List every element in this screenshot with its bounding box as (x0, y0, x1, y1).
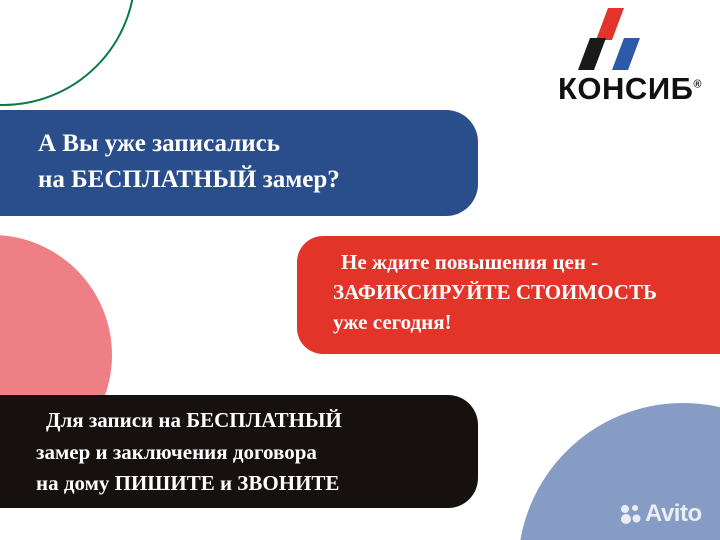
blue-banner-line-2: на БЕСПЛАТНЫЙ замер? (38, 162, 478, 198)
brand-logo: КОНСИБ® (522, 8, 702, 104)
red-banner-line-3: уже сегодня! (333, 308, 720, 338)
black-banner-line-3: на дому ПИШИТЕ и ЗВОНИТЕ (36, 468, 478, 500)
konsib-logo-mark-icon (578, 8, 640, 70)
black-banner-line-1: Для записи на БЕСПЛАТНЫЙ (36, 405, 478, 437)
registered-trademark-symbol: ® (693, 79, 702, 91)
headline-banner-black: Для записи на БЕСПЛАТНЫЙ замер и заключе… (0, 395, 478, 508)
headline-banner-blue: А Вы уже записались на БЕСПЛАТНЫЙ замер? (0, 110, 478, 216)
avito-watermark-label: Avito (645, 502, 702, 526)
red-banner-line-2: ЗАФИКСИРУЙТЕ СТОИМОСТЬ (333, 278, 720, 308)
black-banner-line-2: замер и заключения договора (36, 437, 478, 469)
avito-dots-icon (620, 503, 642, 525)
red-banner-line-1: Не ждите повышения цен - (333, 248, 720, 278)
blue-banner-line-1: А Вы уже записались (38, 126, 478, 162)
avito-watermark: Avito (620, 502, 702, 526)
poster-canvas: КОНСИБ® А Вы уже записались на БЕСПЛАТНЫ… (0, 0, 720, 540)
green-circle-outline-decoration (0, 0, 136, 106)
brand-wordmark-text: КОНСИБ (558, 71, 693, 106)
headline-banner-red: Не ждите повышения цен - ЗАФИКСИРУЙТЕ СТ… (297, 236, 720, 354)
brand-wordmark: КОНСИБ® (558, 73, 702, 104)
